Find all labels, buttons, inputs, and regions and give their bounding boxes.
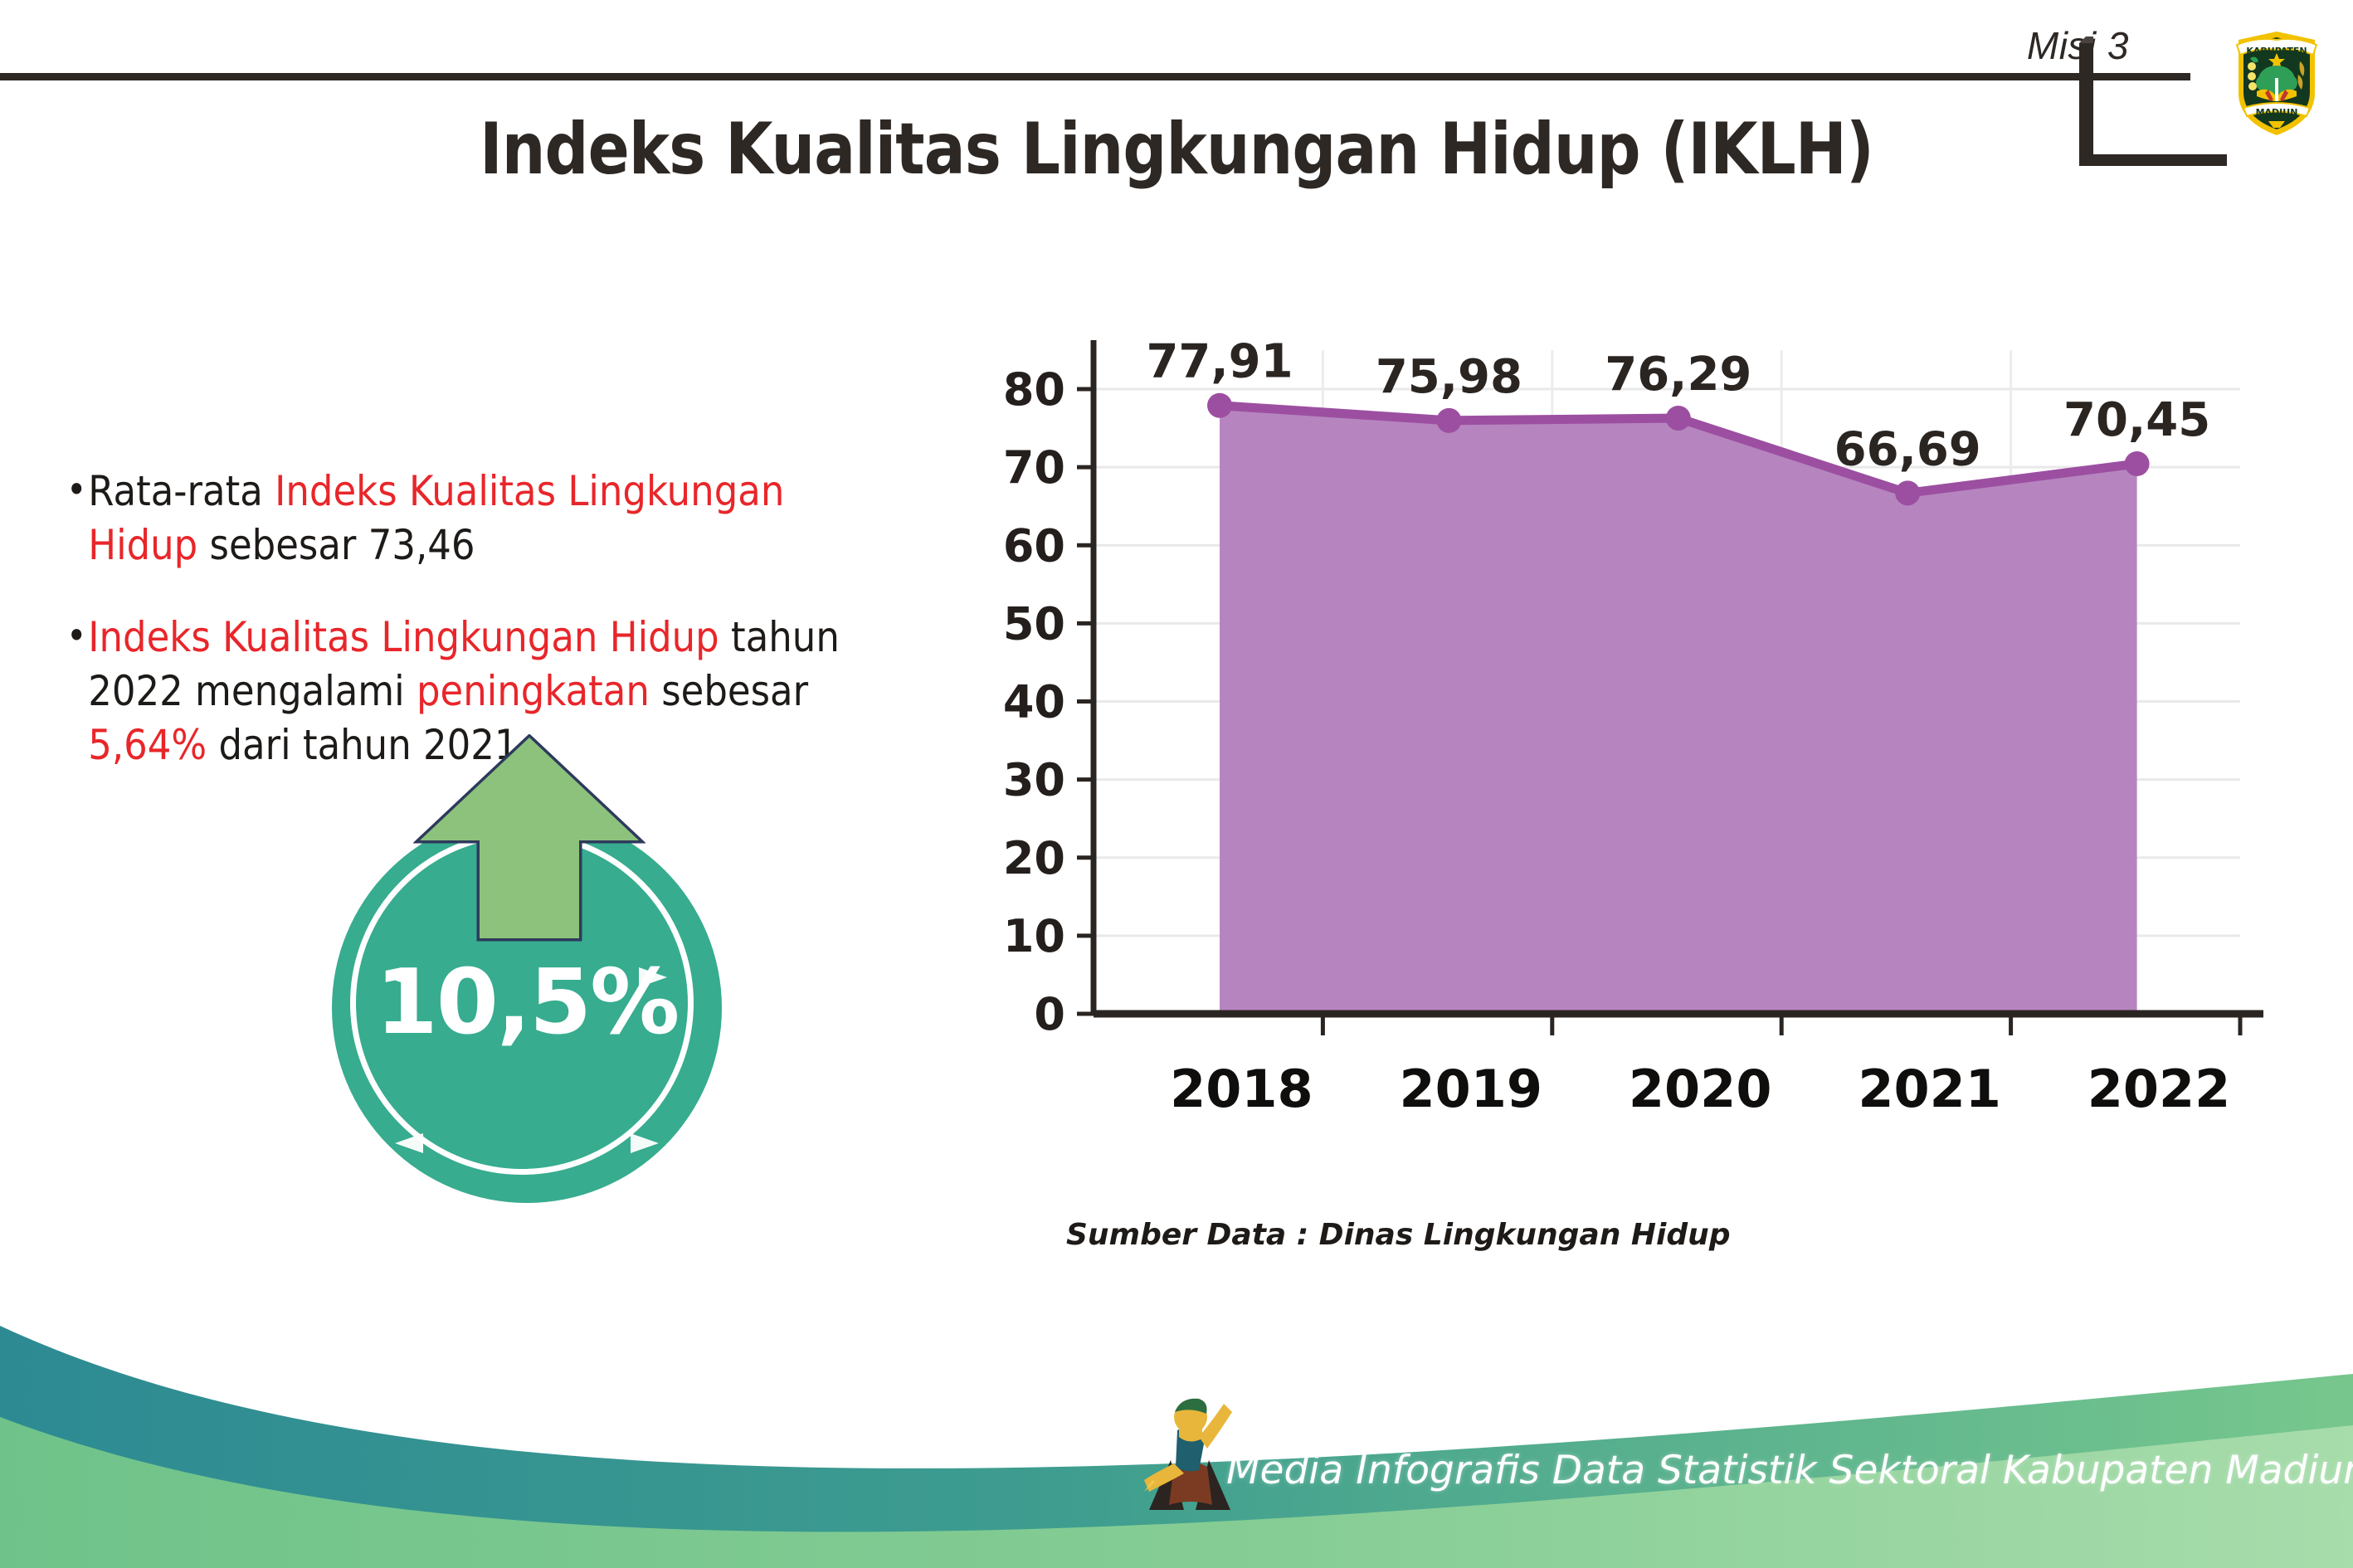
chart-data-label: 76,29 <box>1605 348 1751 402</box>
bullet-marker-icon: • <box>66 465 86 516</box>
chart-data-point <box>1436 408 1461 433</box>
x-axis-tick-label: 2018 <box>1170 1059 1313 1119</box>
chart-data-point <box>1666 406 1691 431</box>
y-axis-tick-label: 20 <box>1003 832 1065 884</box>
bullet-segment-highlight: 5,64% <box>88 721 207 769</box>
chart-area-fill <box>1220 406 2137 1014</box>
arrow-up-icon <box>413 734 645 942</box>
list-item: • Rata-rata Indeks Kualitas Lingkungan H… <box>66 465 880 572</box>
bullet-segment-highlight: peningkatan <box>417 667 650 715</box>
bullet-segment-highlight: Indeks Kualitas Lingkungan Hidup <box>88 613 719 661</box>
source-note: Sumber Data : Dinas Lingkungan Hidup <box>1066 1218 1731 1252</box>
y-axis-tick-label: 80 <box>1003 363 1065 416</box>
badge-percent-value: 10,5% <box>332 951 722 1054</box>
header-divider-rule <box>0 73 2190 80</box>
chart-data-point <box>2125 451 2150 476</box>
y-axis-tick-label: 50 <box>1003 597 1065 650</box>
increase-badge: 10,5% <box>332 813 722 1203</box>
iklh-area-chart: 0102030405060708077,9175,9876,2966,6970,… <box>979 299 2273 1178</box>
bullet-marker-icon: • <box>66 611 86 662</box>
x-axis-tick-label: 2020 <box>1629 1059 1772 1119</box>
media-infografis-figure-icon <box>1141 1387 1239 1512</box>
chart-data-label: 66,69 <box>1834 422 1981 476</box>
svg-text:MADIUN: MADIUN <box>2256 107 2298 118</box>
page-title: Indeks Kualitas Lingkungan Hidup (IKLH) <box>165 108 2189 191</box>
footer-caption: Media Infografis Data Statistik Sektoral… <box>1226 1448 2353 1493</box>
chart-data-label: 75,98 <box>1376 350 1522 404</box>
chart-data-point <box>1207 393 1232 418</box>
bullet-segment: sebesar 73,46 <box>197 521 475 569</box>
badge-triangle-bottom-right-icon <box>631 1133 659 1153</box>
footer-wave: Media Infografis Data Statistik Sektoral… <box>0 1294 2353 1568</box>
y-axis-tick-label: 10 <box>1003 910 1065 962</box>
bullet-segment: sebesar <box>650 667 808 715</box>
chart-data-label: 70,45 <box>2063 393 2210 447</box>
y-axis-tick-label: 60 <box>1003 519 1065 572</box>
chart-canvas: 0102030405060708077,9175,9876,2966,6970,… <box>979 299 2273 1178</box>
y-axis-tick-label: 70 <box>1003 441 1065 494</box>
bullet-text: Rata-rata Indeks Kualitas Lingkungan Hid… <box>88 465 880 572</box>
chart-data-label: 77,91 <box>1146 335 1293 389</box>
x-axis-tick-label: 2021 <box>1858 1059 2001 1119</box>
y-axis-tick-label: 30 <box>1003 754 1065 806</box>
badge-triangle-bottom-left-icon <box>395 1133 423 1153</box>
y-axis-tick-label: 40 <box>1003 676 1065 728</box>
x-axis-tick-label: 2022 <box>2087 1059 2231 1119</box>
chart-data-point <box>1895 480 1920 505</box>
y-axis-tick-label: 0 <box>1034 988 1065 1040</box>
bullet-segment: Rata-rata <box>88 467 275 515</box>
kabupaten-madiun-crest-icon: KABUPATEN MADIUN <box>2232 28 2321 138</box>
x-axis-tick-label: 2019 <box>1400 1059 1543 1119</box>
